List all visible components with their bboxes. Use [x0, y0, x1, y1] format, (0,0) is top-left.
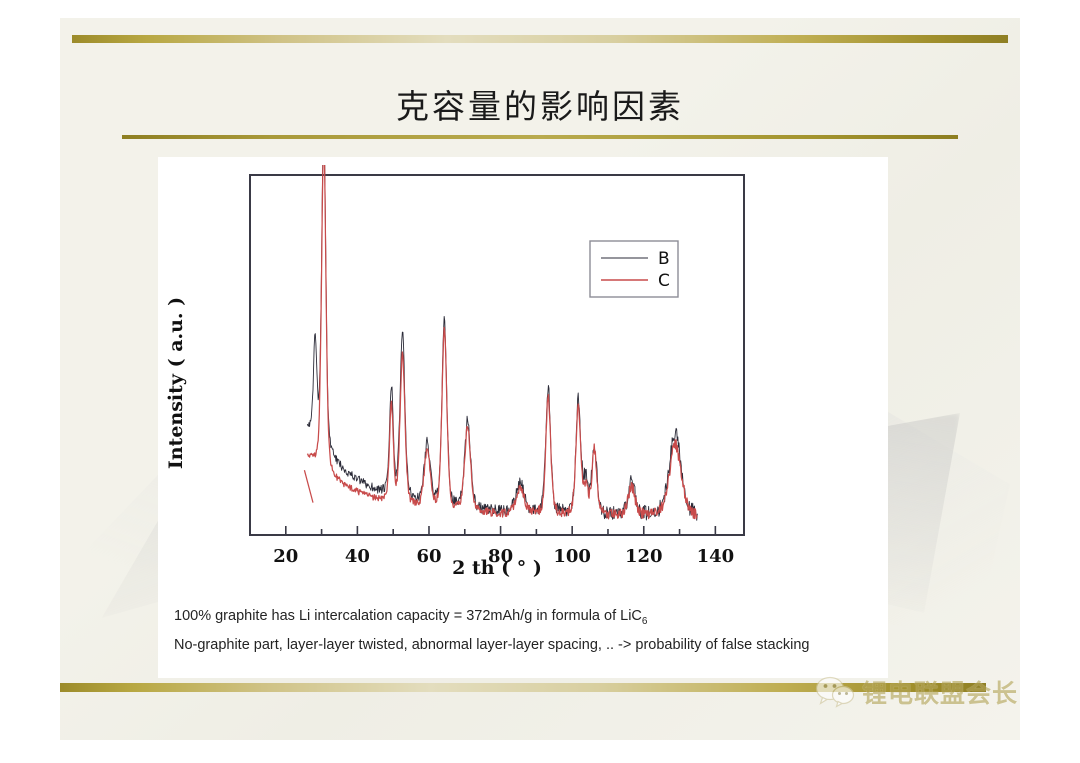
slide-root: 克容量的影响因素 Intensity ( a.u. ) 204060801001…	[0, 0, 1080, 763]
legend-label-b: B	[658, 249, 670, 269]
title-divider-rule	[122, 135, 958, 139]
caption-line-1: 100% graphite has Li intercalation capac…	[174, 605, 874, 630]
x-axis-tick-label: 20	[273, 546, 298, 567]
wechat-icon	[815, 676, 855, 708]
x-axis-tick-label: 140	[697, 546, 735, 567]
xrd-chart: Intensity ( a.u. ) 20406080100120140 2 t…	[158, 165, 888, 585]
caption-block: 100% graphite has Li intercalation capac…	[174, 605, 874, 662]
x-axis-tick-label: 100	[553, 546, 591, 567]
caption-line-1-subscript: 6	[642, 616, 648, 627]
caption-line-2: No-graphite part, layer-layer twisted, a…	[174, 634, 874, 658]
page-title: 克容量的影响因素	[60, 80, 1020, 128]
content-card: Intensity ( a.u. ) 20406080100120140 2 t…	[158, 157, 888, 678]
xrd-chart-svg: Intensity ( a.u. ) 20406080100120140 2 t…	[158, 165, 888, 585]
watermark-text: 锂电联盟会长	[862, 674, 1018, 710]
caption-line-1-text: 100% graphite has Li intercalation capac…	[174, 608, 642, 624]
x-axis-tick-label: 40	[345, 546, 370, 567]
plot-frame	[250, 175, 744, 535]
chart-legend: BC	[590, 241, 678, 297]
x-axis-tick-label: 60	[416, 546, 441, 567]
watermark: 锂电联盟会长	[815, 674, 1018, 710]
bottom-gold-bar	[60, 683, 986, 692]
slide-canvas: 克容量的影响因素 Intensity ( a.u. ) 204060801001…	[60, 18, 1020, 740]
top-gold-bar	[72, 35, 1008, 43]
legend-label-c: C	[658, 271, 670, 291]
y-axis-label: Intensity ( a.u. )	[165, 297, 187, 469]
x-axis-label: 2 th ( ° )	[452, 557, 542, 579]
x-axis-tick-label: 120	[625, 546, 663, 567]
